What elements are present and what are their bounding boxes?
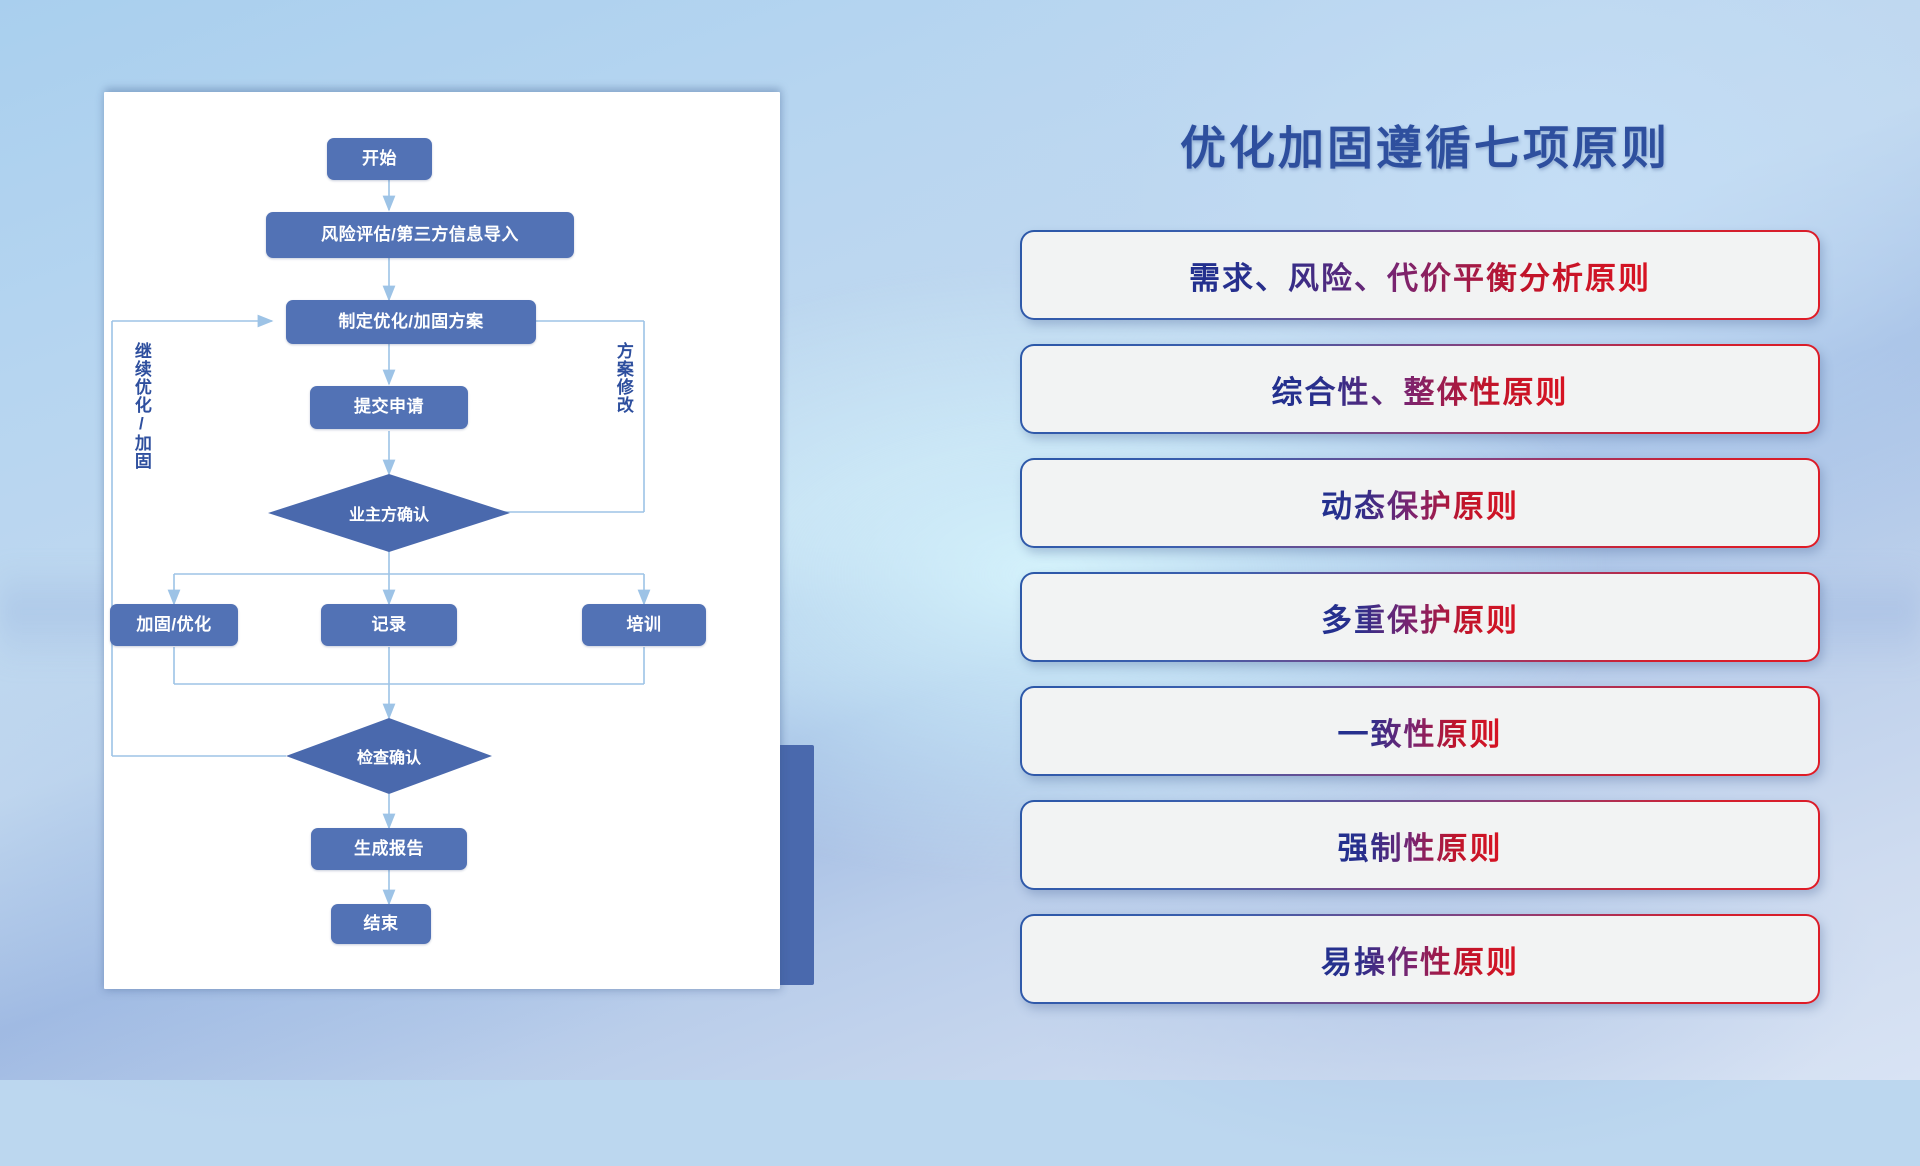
principle-label: 综合性、整体性原则 [1272,367,1569,412]
principle-label: 强制性原则 [1338,823,1503,868]
flow-node-training[interactable]: 培训 [582,604,706,646]
page-title: 优化加固遵循七项原则 [1000,112,1850,178]
principle-card-inner: 易操作性原则 [1022,916,1818,1002]
principle-card-inner: 一致性原则 [1022,688,1818,774]
principle-label: 动态保护原则 [1321,481,1519,526]
flow-node-end[interactable]: 结束 [331,904,431,944]
principle-card-6[interactable]: 强制性原则 [1020,800,1820,890]
principle-card-inner: 多重保护原则 [1022,574,1818,660]
principle-card-inner: 需求、风险、代价平衡分析原则 [1022,232,1818,318]
principle-card-inner: 动态保护原则 [1022,460,1818,546]
principle-card-inner: 综合性、整体性原则 [1022,346,1818,432]
flow-node-submit-application[interactable]: 提交申请 [310,386,468,429]
principles-panel: 优化加固遵循七项原则 需求、风险、代价平衡分析原则 综合性、整体性原则 动态保护… [1000,0,1920,1080]
principle-label: 易操作性原则 [1321,937,1519,982]
principle-card-4[interactable]: 多重保护原则 [1020,572,1820,662]
principle-label: 需求、风险、代价平衡分析原则 [1189,253,1651,298]
flow-edge-label-plan-revision: 方案修改 [614,342,632,462]
principle-card-5[interactable]: 一致性原则 [1020,686,1820,776]
principle-card-2[interactable]: 综合性、整体性原则 [1020,344,1820,434]
flow-edge-label-continue-optimize: 继续优化/加固 [132,342,150,512]
principles-list: 需求、风险、代价平衡分析原则 综合性、整体性原则 动态保护原则 多重保护原则 一… [1020,230,1820,1028]
principle-card-1[interactable]: 需求、风险、代价平衡分析原则 [1020,230,1820,320]
principle-label: 一致性原则 [1338,709,1503,754]
flowchart-white-panel: 开始 风险评估/第三方信息导入 制定优化/加固方案 提交申请 业主方确认 加固/… [104,92,780,989]
flow-node-risk-assessment[interactable]: 风险评估/第三方信息导入 [266,212,574,258]
flowchart-panel-group: 开始 风险评估/第三方信息导入 制定优化/加固方案 提交申请 业主方确认 加固/… [0,0,880,1080]
principle-card-inner: 强制性原则 [1022,802,1818,888]
flow-node-start[interactable]: 开始 [327,138,432,180]
flow-node-reinforce-optimize[interactable]: 加固/优化 [110,604,238,646]
flow-node-plan[interactable]: 制定优化/加固方案 [286,300,536,344]
flowchart: 开始 风险评估/第三方信息导入 制定优化/加固方案 提交申请 业主方确认 加固/… [104,92,780,989]
flow-node-record[interactable]: 记录 [321,604,457,646]
principle-label: 多重保护原则 [1321,595,1519,640]
flow-node-generate-report[interactable]: 生成报告 [311,828,467,870]
principle-card-7[interactable]: 易操作性原则 [1020,914,1820,1004]
principle-card-3[interactable]: 动态保护原则 [1020,458,1820,548]
